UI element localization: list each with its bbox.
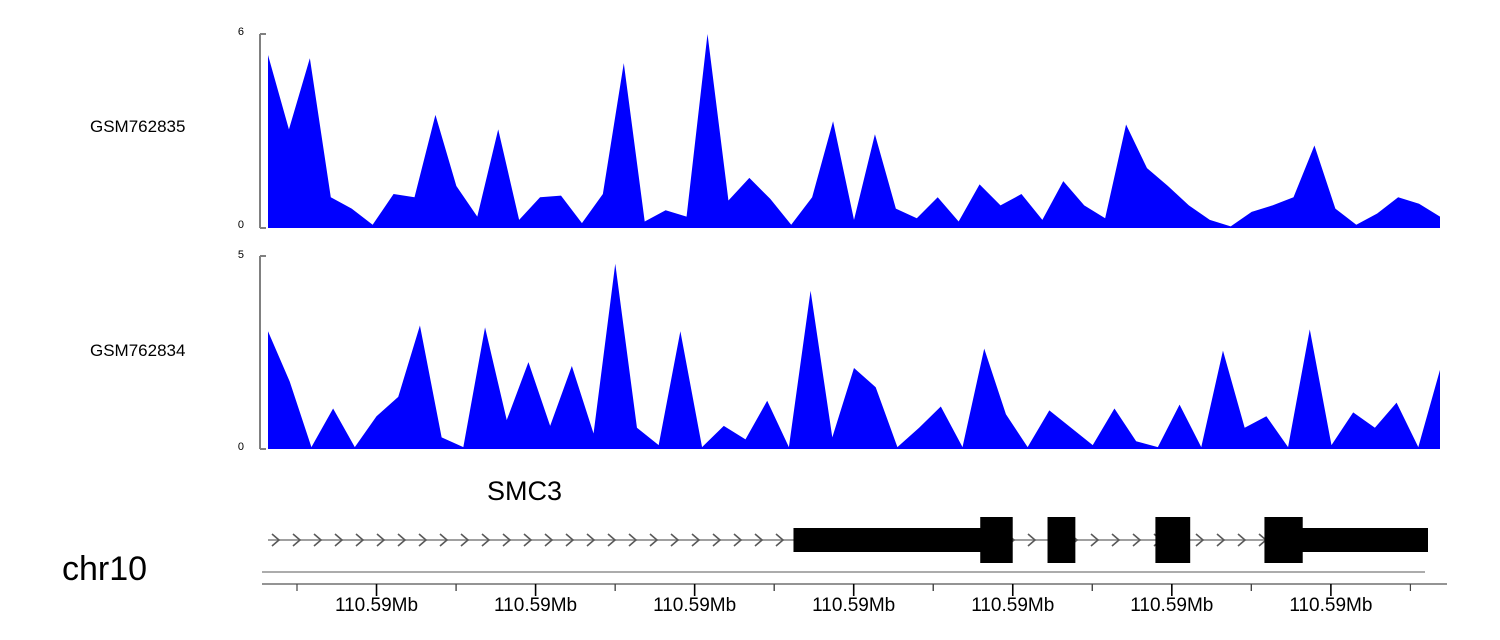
ruler-tick-label: 110.59Mb	[1130, 595, 1213, 617]
gene-exon-block[interactable]	[793, 528, 990, 552]
track2-coverage-area	[268, 256, 1440, 449]
ruler-tick-label: 110.59Mb	[653, 595, 736, 617]
gene-exon-block[interactable]	[1155, 517, 1190, 563]
track2-axis-min-label: 0	[218, 441, 244, 453]
track-label-gsm762834: GSM762834	[90, 341, 185, 361]
coverage-track-gsm762834: GSM762834 5 0	[0, 240, 1500, 465]
track2-axis-max-label: 5	[218, 249, 244, 261]
track1-coverage-area	[268, 34, 1440, 228]
coverage-polygon	[268, 264, 1440, 449]
track1-axis-max-label: 6	[218, 26, 244, 38]
gene-exon-block[interactable]	[980, 517, 1012, 563]
ruler-tick-label: 110.59Mb	[494, 595, 577, 617]
track1-y-axis	[248, 30, 266, 234]
genome-browser: GSM762835 6 0 GSM762834 5 0 SMC3 chr10 1…	[0, 0, 1500, 640]
chromosome-label: chr10	[62, 550, 147, 589]
gene-model-track[interactable]	[268, 512, 1428, 568]
gene-exon-block[interactable]	[1295, 528, 1428, 552]
track1-axis-min-label: 0	[218, 219, 244, 231]
gene-name-label: SMC3	[487, 476, 562, 507]
track-label-gsm762835: GSM762835	[90, 117, 185, 137]
ruler-tick-label: 110.59Mb	[812, 595, 895, 617]
coverage-polygon	[268, 34, 1440, 228]
ruler-tick-label: 110.59Mb	[1289, 595, 1372, 617]
ruler-tick-label: 110.59Mb	[335, 595, 418, 617]
ruler-tick-label: 110.59Mb	[971, 595, 1054, 617]
track2-y-axis	[248, 252, 266, 455]
genome-ruler[interactable]	[262, 570, 1447, 596]
coverage-track-gsm762835: GSM762835 6 0	[0, 0, 1500, 240]
gene-exon-block[interactable]	[1048, 517, 1076, 563]
